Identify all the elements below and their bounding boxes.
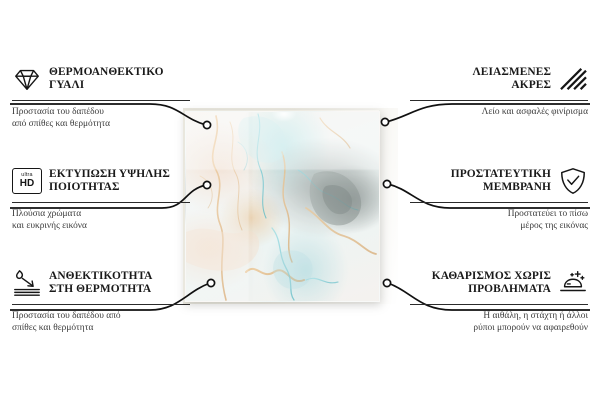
feature-body: Προστασία του δαπέδου από σπίθες και θερ… xyxy=(12,106,190,130)
feature-header: ΘΕΡΜΟΑΝΘΕΚΤΙΚΟ ΓΥΑΛΙ xyxy=(12,62,190,96)
feature-heat-resistant-glass: ΘΕΡΜΟΑΝΘΕΚΤΙΚΟ ΓΥΑΛΙ Προστασία του δαπέδ… xyxy=(12,62,190,130)
flame-deflect-icon xyxy=(12,268,42,298)
divider xyxy=(410,100,588,101)
ultra-hd-icon: ultra HD xyxy=(12,168,42,194)
feature-title: ΑΝΘΕΚΤΙΚΟΤΗΤΑ ΣΤΗ ΘΕΡΜΟΤΗΤΑ xyxy=(49,270,153,297)
feature-header: ΑΝΘΕΚΤΙΚΟΤΗΤΑ ΣΤΗ ΘΕΡΜΟΤΗΤΑ xyxy=(12,266,190,300)
feature-body: Λείο και ασφαλές φινίρισμα xyxy=(410,106,588,118)
infographic-canvas: ΘΕΡΜΟΑΝΘΕΚΤΙΚΟ ΓΥΑΛΙ Προστασία του δαπέδ… xyxy=(0,0,600,400)
product-glass-panel xyxy=(185,111,380,302)
feature-title: ΕΚΤΥΠΩΣΗ ΥΨΗΛΗΣ ΠΟΙΟΤΗΤΑΣ xyxy=(49,168,170,195)
feature-header: ultra HD ΕΚΤΥΠΩΣΗ ΥΨΗΛΗΣ ΠΟΙΟΤΗΤΑΣ xyxy=(12,164,190,198)
feature-title: ΛΕΙΑΣΜΕΝΕΣ ΑΚΡΕΣ xyxy=(473,66,552,93)
feature-polished-edges: ΛΕΙΑΣΜΕΝΕΣ ΑΚΡΕΣ Λείο και ασφαλές φινίρι… xyxy=(410,62,588,118)
feature-title: ΠΡΟΣΤΑΤΕΥΤΙΚΗ ΜΕΜΒΡΑΝΗ xyxy=(451,168,551,195)
feature-header: ΠΡΟΣΤΑΤΕΥΤΙΚΗ ΜΕΜΒΡΑΝΗ xyxy=(410,164,588,198)
sponge-sparkle-icon xyxy=(558,268,588,298)
divider xyxy=(12,202,190,203)
feature-body: Προστατεύει το πίσω μέρος της εικόνας xyxy=(410,208,588,232)
feature-body: Πλούσια χρώματα και ευκρινής εικόνα xyxy=(12,208,190,232)
divider xyxy=(410,202,588,203)
feature-header: ΛΕΙΑΣΜΕΝΕΣ ΑΚΡΕΣ xyxy=(410,62,588,96)
feature-body: Η αιθάλη, η στάχτη ή άλλοι ρύποι μπορούν… xyxy=(410,310,588,334)
feature-title: ΘΕΡΜΟΑΝΘΕΚΤΙΚΟ ΓΥΑΛΙ xyxy=(49,66,164,93)
feature-heat-durability: ΑΝΘΕΚΤΙΚΟΤΗΤΑ ΣΤΗ ΘΕΡΜΟΤΗΤΑ Προστασία το… xyxy=(12,266,190,334)
divider xyxy=(12,100,190,101)
feature-high-quality-print: ultra HD ΕΚΤΥΠΩΣΗ ΥΨΗΛΗΣ ΠΟΙΟΤΗΤΑΣ Πλούσ… xyxy=(12,164,190,232)
glass-reflection xyxy=(186,112,379,301)
diagonal-stripes-icon xyxy=(558,64,588,94)
diamond-icon xyxy=(12,64,42,94)
divider xyxy=(12,304,190,305)
divider xyxy=(410,304,588,305)
feature-body: Προστασία του δαπέδου από σπίθες και θερ… xyxy=(12,310,190,334)
feature-easy-cleaning: ΚΑΘΑΡΙΣΜΟΣ ΧΩΡΙΣ ΠΡΟΒΛΗΜΑΤΑ Η αιθάλη, η … xyxy=(410,266,588,334)
feature-header: ΚΑΘΑΡΙΣΜΟΣ ΧΩΡΙΣ ΠΡΟΒΛΗΜΑΤΑ xyxy=(410,266,588,300)
feature-protective-membrane: ΠΡΟΣΤΑΤΕΥΤΙΚΗ ΜΕΜΒΡΑΝΗ Προστατεύει το πί… xyxy=(410,164,588,232)
shield-check-icon xyxy=(558,166,588,196)
feature-title: ΚΑΘΑΡΙΣΜΟΣ ΧΩΡΙΣ ΠΡΟΒΛΗΜΑΤΑ xyxy=(432,270,551,297)
